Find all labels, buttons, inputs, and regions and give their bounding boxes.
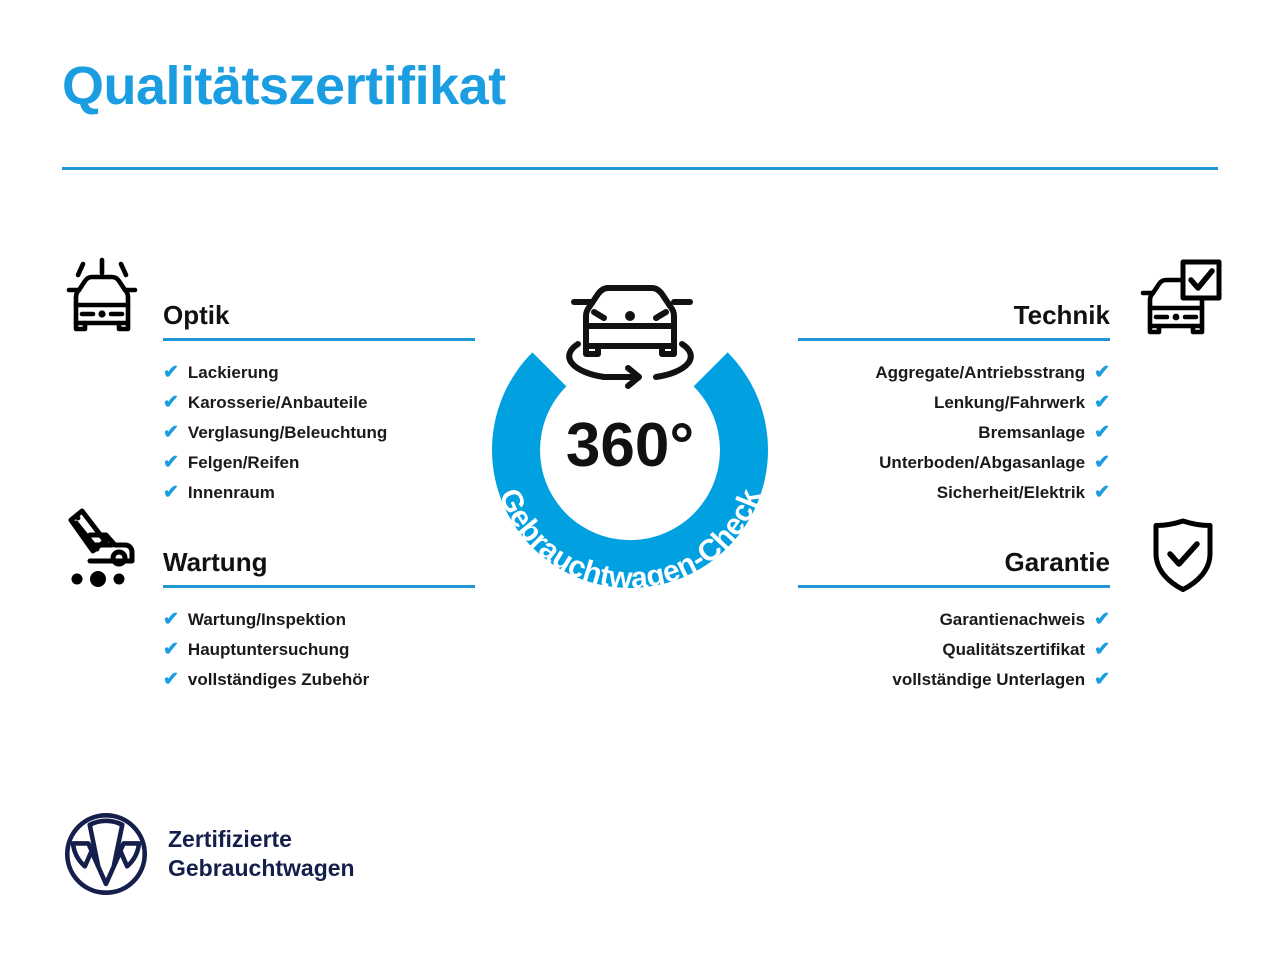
list-item-label: Innenraum: [188, 478, 275, 508]
check-icon: ✔: [1094, 418, 1110, 448]
list-item: ✔Lackierung: [163, 358, 475, 388]
shield-check-icon: [1138, 512, 1228, 602]
checklist-optik: ✔Lackierung ✔Karosserie/Anbauteile ✔Verg…: [163, 358, 475, 508]
section-title: Garantie: [798, 545, 1110, 579]
checklist-technik: Aggregate/Antriebsstrang✔ Lenkung/Fahrwe…: [798, 358, 1110, 508]
footer-line-1: Zertifizierte: [168, 825, 355, 854]
volkswagen-logo: [62, 810, 150, 898]
list-item: ✔Innenraum: [163, 478, 475, 508]
section-divider: [798, 585, 1110, 588]
car-front-checkbox-icon: [1133, 258, 1223, 348]
list-item-label: Hauptuntersuchung: [188, 635, 350, 665]
list-item-label: Karosserie/Anbauteile: [188, 388, 368, 418]
check-icon: ✔: [163, 605, 179, 635]
check-icon: ✔: [1094, 358, 1110, 388]
section-optik: Optik ✔Lackierung ✔Karosserie/Anbauteile…: [163, 298, 475, 508]
360-gebrauchtwagen-check-badge: Gebrauchtwagen-Check 360°: [455, 244, 805, 604]
list-item-label: Lackierung: [188, 358, 279, 388]
car-rotate-360-icon: [569, 288, 691, 386]
section-garantie: Garantie Garantienachweis✔ Qualitätszert…: [798, 545, 1110, 695]
list-item: ✔Hauptuntersuchung: [163, 635, 475, 665]
check-icon: ✔: [1094, 635, 1110, 665]
list-item-label: Wartung/Inspektion: [188, 605, 346, 635]
list-item-label: vollständiges Zubehör: [188, 665, 369, 695]
checklist-wartung: ✔Wartung/Inspektion ✔Hauptuntersuchung ✔…: [163, 605, 475, 695]
list-item: Unterboden/Abgasanlage✔: [798, 448, 1110, 478]
check-icon: ✔: [1094, 448, 1110, 478]
list-item-label: Aggregate/Antriebsstrang: [875, 358, 1085, 388]
list-item: Bremsanlage✔: [798, 418, 1110, 448]
car-front-shine-icon: [57, 256, 147, 346]
list-item-label: Lenkung/Fahrwerk: [934, 388, 1085, 418]
list-item-label: Garantienachweis: [940, 605, 1086, 635]
list-item-label: vollständige Unterlagen: [892, 665, 1085, 695]
section-divider: [163, 338, 475, 341]
section-header: Garantie: [798, 545, 1110, 591]
section-divider: [163, 585, 475, 588]
list-item: Qualitätszertifikat✔: [798, 635, 1110, 665]
check-icon: ✔: [1094, 388, 1110, 418]
section-title: Optik: [163, 298, 475, 332]
footer-line-2: Gebrauchtwagen: [168, 854, 355, 883]
section-title: Technik: [798, 298, 1110, 332]
checklist-garantie: Garantienachweis✔ Qualitätszertifikat✔ v…: [798, 605, 1110, 695]
footer-text: Zertifizierte Gebrauchtwagen: [168, 825, 355, 883]
check-icon: ✔: [1094, 605, 1110, 635]
list-item: vollständige Unterlagen✔: [798, 665, 1110, 695]
section-header: Wartung: [163, 545, 475, 591]
check-icon: ✔: [163, 635, 179, 665]
page-title: Qualitätszertifikat: [62, 58, 506, 115]
title-divider: [62, 167, 1218, 170]
list-item-label: Bremsanlage: [978, 418, 1085, 448]
list-item: ✔Verglasung/Beleuchtung: [163, 418, 475, 448]
check-icon: ✔: [163, 478, 179, 508]
list-item: ✔Wartung/Inspektion: [163, 605, 475, 635]
check-icon: ✔: [163, 418, 179, 448]
check-icon: ✔: [163, 358, 179, 388]
list-item: Sicherheit/Elektrik✔: [798, 478, 1110, 508]
check-icon: ✔: [1094, 478, 1110, 508]
list-item-label: Qualitätszertifikat: [942, 635, 1085, 665]
section-technik: Technik Aggregate/Antriebsstrang✔ Lenkun…: [798, 298, 1110, 508]
check-icon: ✔: [1094, 665, 1110, 695]
list-item: Lenkung/Fahrwerk✔: [798, 388, 1110, 418]
section-header: Technik: [798, 298, 1110, 344]
check-icon: ✔: [163, 388, 179, 418]
list-item-label: Sicherheit/Elektrik: [937, 478, 1085, 508]
check-icon: ✔: [163, 665, 179, 695]
section-divider: [798, 338, 1110, 341]
list-item-label: Verglasung/Beleuchtung: [188, 418, 387, 448]
section-header: Optik: [163, 298, 475, 344]
footer-brand: Zertifizierte Gebrauchtwagen: [62, 810, 355, 898]
list-item: Aggregate/Antriebsstrang✔: [798, 358, 1110, 388]
badge-center-text: 360°: [566, 411, 694, 480]
section-wartung: Wartung ✔Wartung/Inspektion ✔Hauptunters…: [163, 545, 475, 695]
section-title: Wartung: [163, 545, 475, 579]
list-item: Garantienachweis✔: [798, 605, 1110, 635]
list-item-label: Unterboden/Abgasanlage: [879, 448, 1085, 478]
check-icon: ✔: [163, 448, 179, 478]
car-service-lift-icon: [57, 505, 147, 595]
list-item: ✔Felgen/Reifen: [163, 448, 475, 478]
list-item-label: Felgen/Reifen: [188, 448, 299, 478]
list-item: ✔vollständiges Zubehör: [163, 665, 475, 695]
list-item: ✔Karosserie/Anbauteile: [163, 388, 475, 418]
